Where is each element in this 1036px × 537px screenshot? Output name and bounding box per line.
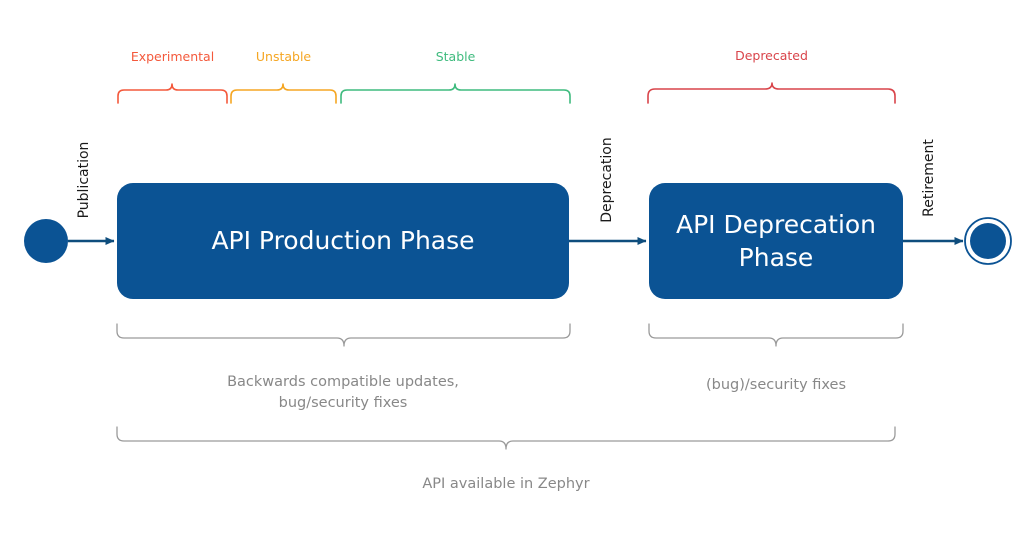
support-bracket-production: Backwards compatible updates, bug/securi… <box>117 324 570 411</box>
support-bracket-deprecation: (bug)/security fixes <box>649 324 903 393</box>
production-support-bracket-path <box>117 324 570 346</box>
api-lifecycle-diagram: Experimental Unstable Stable Deprecated <box>0 0 1036 537</box>
production-support-label-line2: bug/security fixes <box>279 395 408 411</box>
support-bracket-availability: API available in Zephyr <box>117 427 895 492</box>
deprecation-support-label: (bug)/security fixes <box>706 377 846 393</box>
availability-bracket-path <box>117 427 895 449</box>
availability-label: API available in Zephyr <box>422 476 589 492</box>
support-brackets-layer: Backwards compatible updates, bug/securi… <box>0 0 1036 537</box>
production-support-label-line1: Backwards compatible updates, <box>227 374 459 390</box>
deprecation-support-bracket-path <box>649 324 903 346</box>
